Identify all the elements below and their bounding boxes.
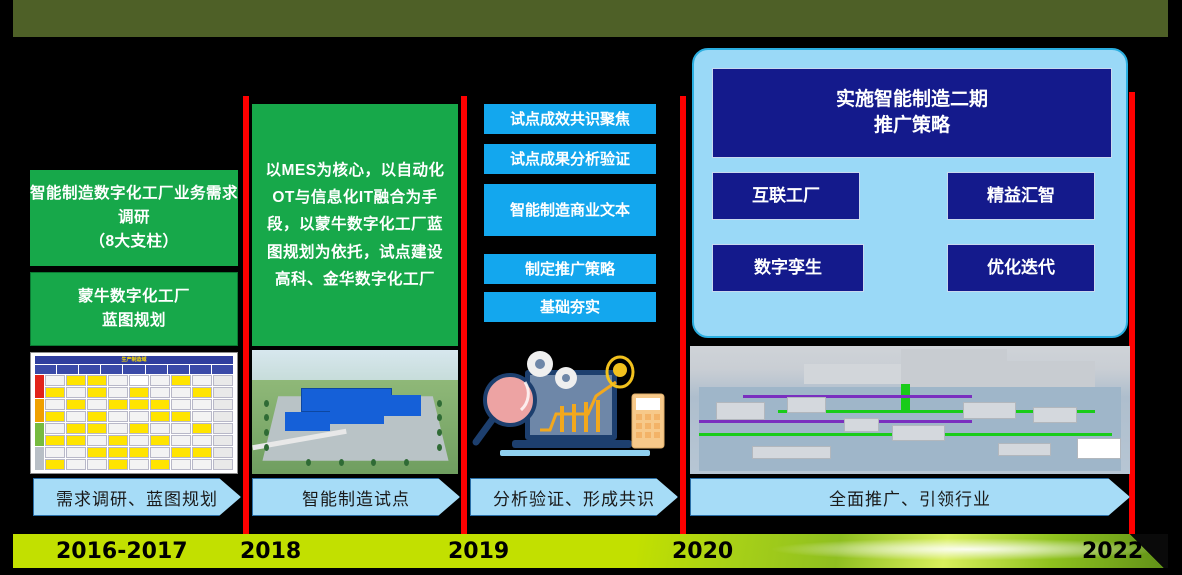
- laptop-base: [512, 440, 632, 448]
- phase1-box-requirements[interactable]: 智能制造数字化工厂业务需求调研 （8大支柱）: [30, 170, 238, 266]
- green-route-line: [901, 384, 910, 412]
- chart-bar: [560, 406, 564, 432]
- phase2-image-aerial: [252, 350, 458, 474]
- chart-bar: [596, 400, 600, 432]
- top-banner: [13, 0, 1168, 37]
- slide-canvas: 智能制造数字化工厂业务需求调研 （8大支柱） 蒙牛数字化工厂 蓝图规划 生产制造…: [0, 0, 1182, 575]
- tree-icon: [306, 459, 311, 466]
- machine-block: [752, 446, 831, 459]
- machine-block: [844, 418, 879, 432]
- phase1-box-blueprint[interactable]: 蒙牛数字化工厂 蓝图规划: [30, 272, 238, 346]
- arrow-phase-3[interactable]: 分析验证、形成共识: [470, 478, 678, 516]
- matrix-header-row: [35, 365, 233, 374]
- machine-block: [1033, 407, 1077, 422]
- phase3-box-2[interactable]: 试点成果分析验证: [484, 144, 656, 174]
- phase3-box-3[interactable]: 智能制造商业文本: [484, 184, 656, 236]
- building-block: [804, 364, 901, 384]
- machine-block: [963, 402, 1016, 419]
- phase-divider-1: [243, 96, 249, 536]
- year-label-2018: 2018: [240, 537, 301, 565]
- year-label-2016-2017: 2016-2017: [56, 537, 188, 565]
- phase4-panel: 实施智能制造二期 推广策略 互联工厂 精益汇智 数字孪生 优化迭代: [692, 48, 1128, 338]
- production-matrix-chart: 生产制造域: [31, 353, 237, 473]
- matrix-grid: [45, 375, 233, 470]
- chart-bar: [584, 402, 588, 432]
- year-label-2020: 2020: [672, 537, 733, 565]
- magnifier-handle: [476, 420, 492, 442]
- phase4-box-digital-twin[interactable]: 数字孪生: [712, 244, 864, 292]
- factory-roof: [285, 412, 330, 431]
- arrow-phase-2[interactable]: 智能制造试点: [252, 478, 460, 516]
- purple-route-line: [699, 420, 972, 423]
- machine-block: [787, 397, 827, 412]
- chart-bar: [572, 404, 576, 432]
- purple-route-line: [743, 395, 972, 398]
- matrix-row-labels: [35, 375, 44, 470]
- phase4-title-box[interactable]: 实施智能制造二期 推广策略: [712, 68, 1112, 158]
- digital-twin-factory: [690, 346, 1130, 474]
- year-label-2019: 2019: [448, 537, 509, 565]
- phase4-box-connected-factory[interactable]: 互联工厂: [712, 172, 860, 220]
- phase3-box-5[interactable]: 基础夯实: [484, 292, 656, 322]
- phase4-box-lean-intelligence[interactable]: 精益汇智: [947, 172, 1095, 220]
- machine-block: [716, 402, 764, 420]
- phase4-box-optimize-iterate[interactable]: 优化迭代: [947, 244, 1095, 292]
- matrix-body: [35, 375, 233, 470]
- matrix-title: 生产制造域: [35, 356, 233, 364]
- phase2-box-strategy[interactable]: 以MES为核心，以自动化OT与信息化IT融合为手段，以蒙牛数字化工厂蓝图规划为依…: [252, 104, 458, 346]
- phase1-image-matrix: 生产制造域: [30, 352, 238, 474]
- phase3-box-4[interactable]: 制定推广策略: [484, 254, 656, 284]
- phase4-image-digital-twin: [690, 346, 1130, 474]
- tree-icon: [339, 459, 344, 466]
- phase3-box-1[interactable]: 试点成效共识聚焦: [484, 104, 656, 134]
- factory-aerial-rendering: [252, 350, 458, 474]
- analysis-illustration: [470, 342, 676, 474]
- laptop-shadow: [500, 450, 650, 456]
- factory-roof: [330, 407, 384, 424]
- machine-block: [892, 425, 945, 440]
- arrow-phase-1[interactable]: 需求调研、蓝图规划: [33, 478, 241, 516]
- phase3-image-analysis: [470, 342, 676, 474]
- sky: [252, 350, 458, 382]
- arrow-phase-4[interactable]: 全面推广、引领行业: [690, 478, 1130, 516]
- phase-divider-3: [680, 96, 686, 536]
- machine-block: [1077, 438, 1121, 458]
- year-label-2022: 2022: [1082, 537, 1143, 565]
- lightbulb-glow: [613, 363, 627, 377]
- machine-block: [998, 443, 1051, 456]
- phase-divider-2: [461, 96, 467, 536]
